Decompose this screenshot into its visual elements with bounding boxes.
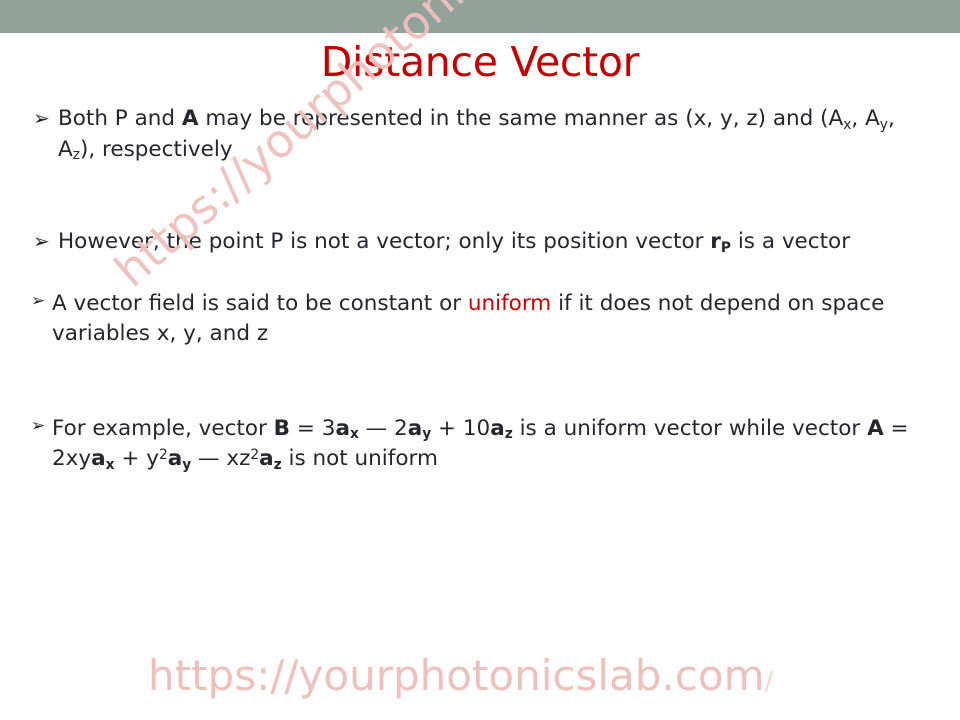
bullet-4-bold-a2: a bbox=[408, 416, 423, 441]
slide-canvas: Distance Vector ➢ Both P and A may be re… bbox=[0, 0, 960, 720]
bullet-1-seg-1: Both P and bbox=[58, 106, 182, 131]
bullet-2-seg-1: However, the point P is not a vector; on… bbox=[58, 229, 710, 254]
bullet-4-sub-x2: x bbox=[106, 457, 115, 473]
bullet-2-seg-2: is a vector bbox=[731, 229, 850, 254]
bullet-item-both-p-and-a: ➢ Both P and A may be represented in the… bbox=[30, 104, 930, 165]
bullet-4-seg-3: — 2 bbox=[359, 416, 408, 441]
bullet-1-seg-3: , A bbox=[851, 106, 879, 131]
bullet-4-bold-a5: a bbox=[168, 446, 183, 471]
bottom-watermark: https://yourphotonicslab.com/ bbox=[148, 651, 773, 700]
bullet-item-uniform-field: ➢ A vector field is said to be constant … bbox=[30, 289, 930, 350]
bullet-4-sub-y1: y bbox=[422, 426, 431, 442]
bullet-text-point-p-not-vector: However, the point P is not a vector; on… bbox=[58, 229, 850, 254]
bullet-3-highlight-uniform: uniform bbox=[468, 291, 551, 316]
bullet-4-sub-z1: z bbox=[505, 426, 513, 442]
slide-body-content: ➢ Both P and A may be represented in the… bbox=[30, 104, 930, 475]
bullet-item-example-vectors: ➢ For example, vector B = 3ax — 2ay + 10… bbox=[30, 414, 930, 475]
bullet-1-sub-y: y bbox=[880, 117, 888, 133]
bullet-4-sub-z2: z bbox=[274, 457, 282, 473]
bullet-4-seg-8: — xz bbox=[191, 446, 250, 471]
bullet-1-seg-2: may be represented in the same manner as… bbox=[199, 106, 844, 131]
bullet-item-point-p-not-vector: ➢ However, the point P is not a vector; … bbox=[30, 227, 930, 258]
bullet-text-uniform-field: A vector field is said to be constant or… bbox=[52, 291, 884, 347]
page-title: Distance Vector bbox=[0, 40, 960, 85]
bullet-4-bold-a3: a bbox=[490, 416, 505, 441]
bullet-4-sup-2b: 2 bbox=[250, 447, 259, 463]
bullet-text-both-p-and-a: Both P and A may be represented in the s… bbox=[58, 106, 895, 162]
bullet-1-sub-x: x bbox=[843, 117, 851, 133]
bullet-4-bold-a1: a bbox=[335, 416, 350, 441]
bullet-1-bold-a: A bbox=[182, 106, 199, 131]
bullet-4-bold-a-vec: A bbox=[867, 416, 884, 441]
bullet-4-seg-2: = 3 bbox=[290, 416, 335, 441]
bullet-4-bold-a6: a bbox=[259, 446, 274, 471]
bottom-watermark-text: https://yourphotonicslab.com bbox=[148, 651, 765, 700]
bullet-arrow-icon: ➢ bbox=[33, 227, 50, 255]
bullet-4-seg-5: is a uniform vector while vector bbox=[513, 416, 867, 441]
bullet-4-sup-2a: 2 bbox=[159, 447, 168, 463]
bottom-watermark-slash: / bbox=[765, 667, 774, 697]
bullet-arrow-icon: ➢ bbox=[31, 289, 45, 313]
bullet-4-seg-9: is not uniform bbox=[282, 446, 438, 471]
bullet-text-example-vectors: For example, vector B = 3ax — 2ay + 10az… bbox=[52, 416, 909, 472]
bullet-2-bold-r: r bbox=[710, 229, 721, 254]
bullet-2-sub-p: P bbox=[721, 240, 731, 256]
top-accent-bar bbox=[0, 0, 960, 33]
bullet-4-seg-4: + 10 bbox=[431, 416, 490, 441]
bullet-4-sub-x1: x bbox=[350, 426, 359, 442]
bullet-4-bold-a4: a bbox=[91, 446, 106, 471]
bullet-1-seg-5: ), respectively bbox=[80, 137, 233, 162]
bullet-4-seg-1: For example, vector bbox=[52, 416, 274, 441]
bullet-4-seg-7: + y bbox=[115, 446, 159, 471]
bullet-1-sub-z: z bbox=[73, 147, 80, 163]
bullet-4-sub-y2: y bbox=[182, 457, 191, 473]
bullet-4-bold-b: B bbox=[274, 416, 290, 441]
bullet-arrow-icon: ➢ bbox=[33, 104, 50, 132]
bullet-arrow-icon: ➢ bbox=[31, 414, 45, 438]
bullet-3-seg-1: A vector field is said to be constant or bbox=[52, 291, 468, 316]
